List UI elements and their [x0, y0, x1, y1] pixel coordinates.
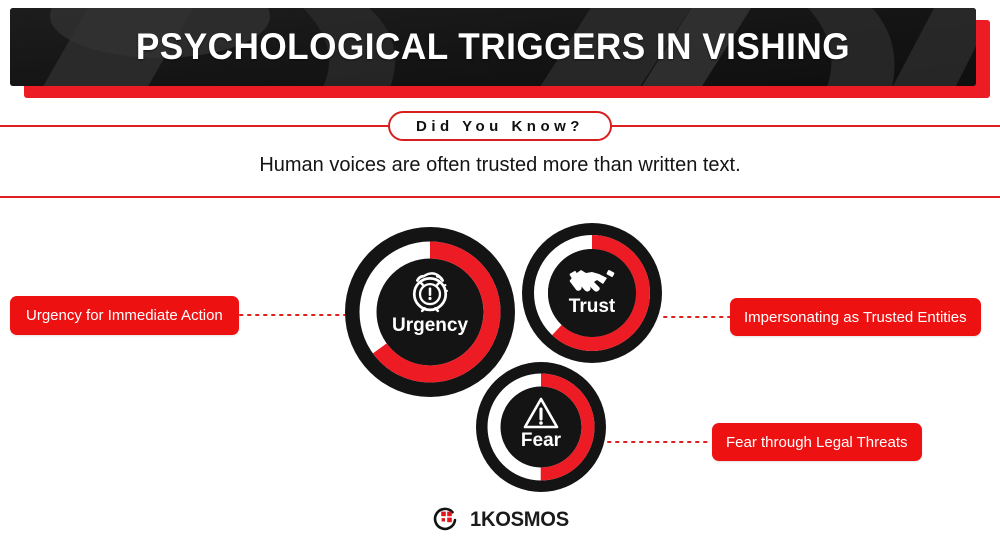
infographic-canvas: PSYCHOLOGICAL TRIGGERS IN VISHING Did Yo…	[0, 0, 1000, 557]
donut-trust[interactable]: Trust	[522, 223, 662, 363]
brand-name: 1KOSMOS	[470, 508, 569, 532]
banner-panel: PSYCHOLOGICAL TRIGGERS IN VISHING	[10, 8, 976, 86]
trust-inner-disc	[548, 249, 636, 337]
page-title: PSYCHOLOGICAL TRIGGERS IN VISHING	[34, 8, 952, 86]
trust-label: Trust	[569, 296, 616, 317]
fear-label: Fear	[521, 430, 562, 451]
donut-urgency[interactable]: Urgency	[345, 227, 515, 397]
callout-urgency[interactable]: Urgency for Immediate Action	[10, 296, 239, 335]
kosmos-mark-icon	[430, 505, 460, 535]
urgency-label: Urgency	[392, 315, 468, 336]
urgency-inner-disc	[377, 259, 483, 365]
donut-fear[interactable]: Fear	[476, 362, 606, 492]
header-banner: PSYCHOLOGICAL TRIGGERS IN VISHING	[10, 8, 976, 86]
did-you-know-badge: Did You Know?	[388, 111, 612, 141]
subtitle-text: Human voices are often trusted more than…	[0, 154, 1000, 177]
callout-fear[interactable]: Fear through Legal Threats	[712, 423, 922, 461]
callout-trust[interactable]: Impersonating as Trusted Entities	[730, 298, 981, 336]
brand-logo: 1KOSMOS	[0, 503, 1000, 537]
